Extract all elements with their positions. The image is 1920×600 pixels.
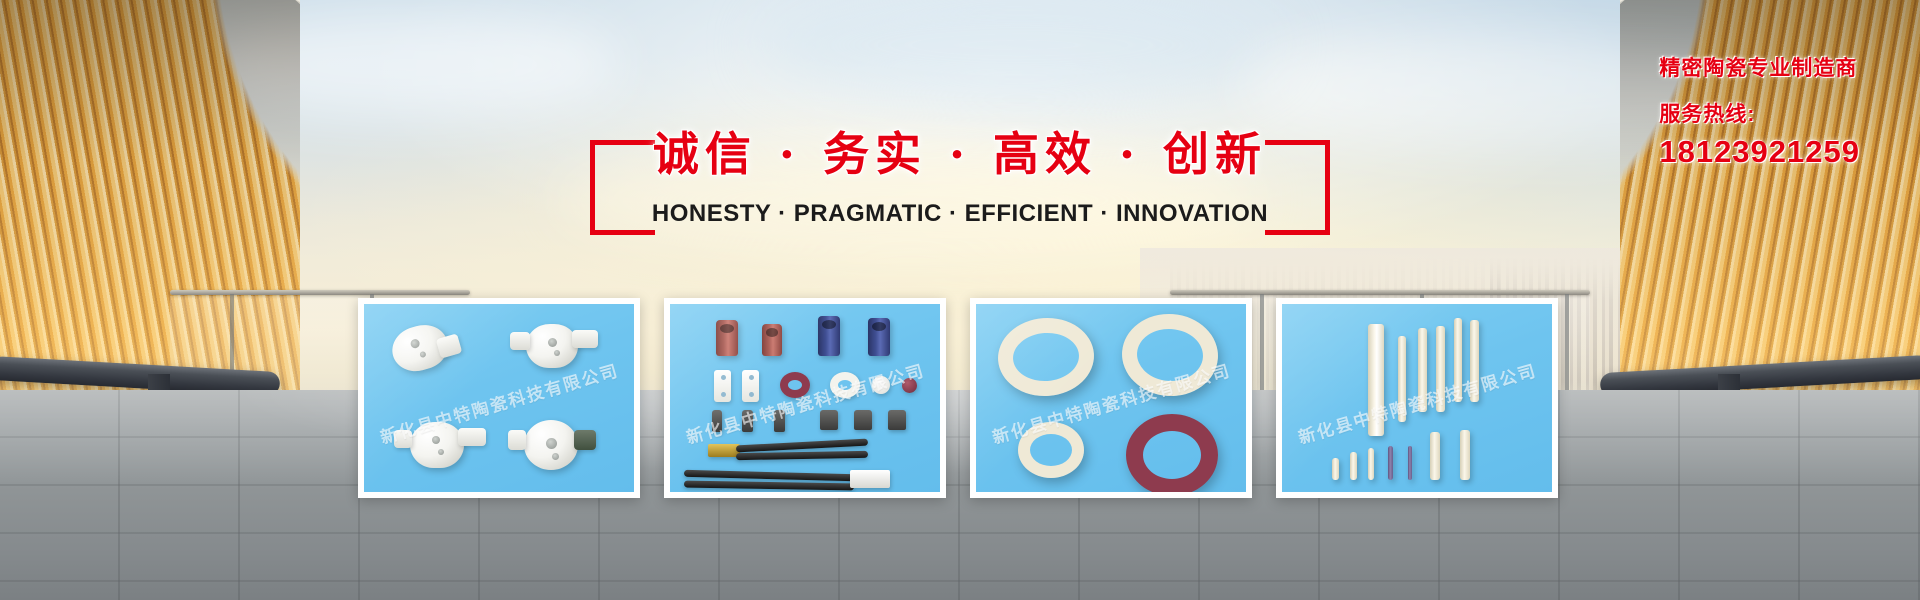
product-panel-row: 新化县中特陶瓷科技有限公司 xyxy=(358,298,1558,498)
ceramic-rod-thick xyxy=(1368,324,1384,436)
holder-terminal-block xyxy=(574,430,596,450)
ceramic-tile-white-1 xyxy=(714,370,731,402)
ceramic-ring-maroon-large xyxy=(1126,414,1218,492)
holder-wing-left xyxy=(510,332,530,350)
holder-hole xyxy=(546,438,557,449)
holder-hole xyxy=(419,351,426,358)
panel-image-area: 新化县中特陶瓷科技有限公司 xyxy=(364,304,634,492)
ceramic-ring-large-ivory-2 xyxy=(1119,311,1220,399)
ceramic-rod-long-1 xyxy=(1398,336,1406,422)
ceramic-ring-maroon xyxy=(780,372,810,398)
terminal-clip-dark xyxy=(712,410,722,432)
slogan-block: 诚信 · 务实 · 高效 · 创新 HONESTY · PRAGMATIC · … xyxy=(560,118,1360,228)
slogan-english: HONESTY · PRAGMATIC · EFFICIENT · INNOVA… xyxy=(560,200,1360,228)
ceramic-ring-large-ivory xyxy=(995,315,1096,400)
ceramic-tube-blue-2 xyxy=(868,318,890,356)
ceramic-rod-short-set xyxy=(1350,452,1357,480)
hotline-label: 服务热线: xyxy=(1659,98,1860,128)
panel-image-area: 新化县中特陶瓷科技有限公司 xyxy=(976,304,1246,492)
tile-hole xyxy=(721,375,726,380)
railing-top-rail xyxy=(1170,290,1590,295)
product-panel-rods[interactable]: 新化县中特陶瓷科技有限公司 xyxy=(1276,298,1558,498)
holder-clamp-right xyxy=(458,428,486,446)
holder-hole xyxy=(410,338,421,349)
terminal-clip-dark xyxy=(888,410,906,430)
product-panel-rings[interactable]: 新化县中特陶瓷科技有限公司 xyxy=(970,298,1252,498)
ceramic-rod-long-4 xyxy=(1454,318,1462,402)
ceramic-ring-small-ivory xyxy=(1018,422,1084,478)
company-tagline: 精密陶瓷专业制造商 xyxy=(1659,52,1860,82)
holder-wing-right xyxy=(572,330,598,348)
ceramic-tube-red-1 xyxy=(716,320,738,356)
railing-top-rail xyxy=(170,290,470,295)
bracket-bottom-left xyxy=(590,140,655,235)
hotline-number[interactable]: 18123921259 xyxy=(1659,134,1860,170)
ceramic-pin-purple xyxy=(1388,446,1393,480)
ceramic-tile-white-2 xyxy=(742,370,759,402)
ceramic-rod-short-set xyxy=(1332,458,1339,480)
tube-bore xyxy=(822,320,836,329)
ceramic-rod-short-set xyxy=(1368,448,1374,480)
holder-hole xyxy=(438,449,444,455)
panel-image-area: 新化县中特陶瓷科技有限公司 xyxy=(670,304,940,492)
holder-clamp-left xyxy=(394,430,412,448)
tube-bore xyxy=(766,328,779,337)
ceramic-lamp-holder-clamp xyxy=(410,422,464,468)
tube-bore xyxy=(720,324,734,333)
wire-assembly-black xyxy=(684,470,854,481)
tile-hole xyxy=(721,392,726,397)
terminal-clip-dark xyxy=(742,410,753,432)
ceramic-ring-white xyxy=(830,372,860,398)
ceramic-cap-maroon xyxy=(902,378,917,393)
holder-hole xyxy=(548,338,557,347)
terminal-clip-dark xyxy=(774,410,785,432)
product-panel-lamp-holders[interactable]: 新化县中特陶瓷科技有限公司 xyxy=(358,298,640,498)
panel-gloss xyxy=(1282,304,1552,492)
ceramic-pin-purple xyxy=(1408,446,1412,480)
holder-hole xyxy=(554,350,560,356)
slogan-chinese: 诚信 · 务实 · 高效 · 创新 xyxy=(560,118,1360,184)
ceramic-rod-long-5 xyxy=(1470,320,1479,402)
holder-hole xyxy=(552,453,559,460)
product-panel-tubes-wires[interactable]: 新化县中特陶瓷科技有限公司 xyxy=(664,298,946,498)
panel-watermark: 新化县中特陶瓷科技有限公司 xyxy=(670,349,940,456)
wire-connector-white xyxy=(850,470,890,488)
ceramic-rod-long-3 xyxy=(1436,326,1445,412)
tube-bore xyxy=(872,322,886,331)
ceramic-tube-red-2 xyxy=(762,324,782,356)
terminal-clip-dark xyxy=(854,410,872,430)
holder-side-tab xyxy=(436,333,463,358)
panel-gloss xyxy=(670,304,940,492)
ceramic-cap-white xyxy=(872,376,890,394)
ceramic-rod-short-set xyxy=(1430,432,1440,480)
tile-hole xyxy=(749,375,754,380)
wire-assembly-black xyxy=(736,451,868,460)
ceramic-tube-blue-1 xyxy=(818,316,840,356)
holder-flange xyxy=(508,430,526,450)
terminal-clip-dark xyxy=(820,410,838,430)
holder-hole xyxy=(432,436,440,444)
ceramic-rod-short-set xyxy=(1460,430,1470,480)
contact-block: 精密陶瓷专业制造商 服务热线: 18123921259 xyxy=(1659,52,1860,170)
panel-watermark: 新化县中特陶瓷科技有限公司 xyxy=(1282,349,1552,456)
panel-image-area: 新化县中特陶瓷科技有限公司 xyxy=(1282,304,1552,492)
ceramic-rod-long-2 xyxy=(1418,328,1427,412)
tile-hole xyxy=(749,392,754,397)
bracket-bottom-right xyxy=(1265,140,1330,235)
promo-banner: 诚信 · 务实 · 高效 · 创新 HONESTY · PRAGMATIC · … xyxy=(0,0,1920,600)
ceramic-lamp-holder-winged xyxy=(526,324,578,368)
wire-assembly-black xyxy=(684,481,854,491)
ceramic-lamp-holder-round xyxy=(524,420,578,470)
